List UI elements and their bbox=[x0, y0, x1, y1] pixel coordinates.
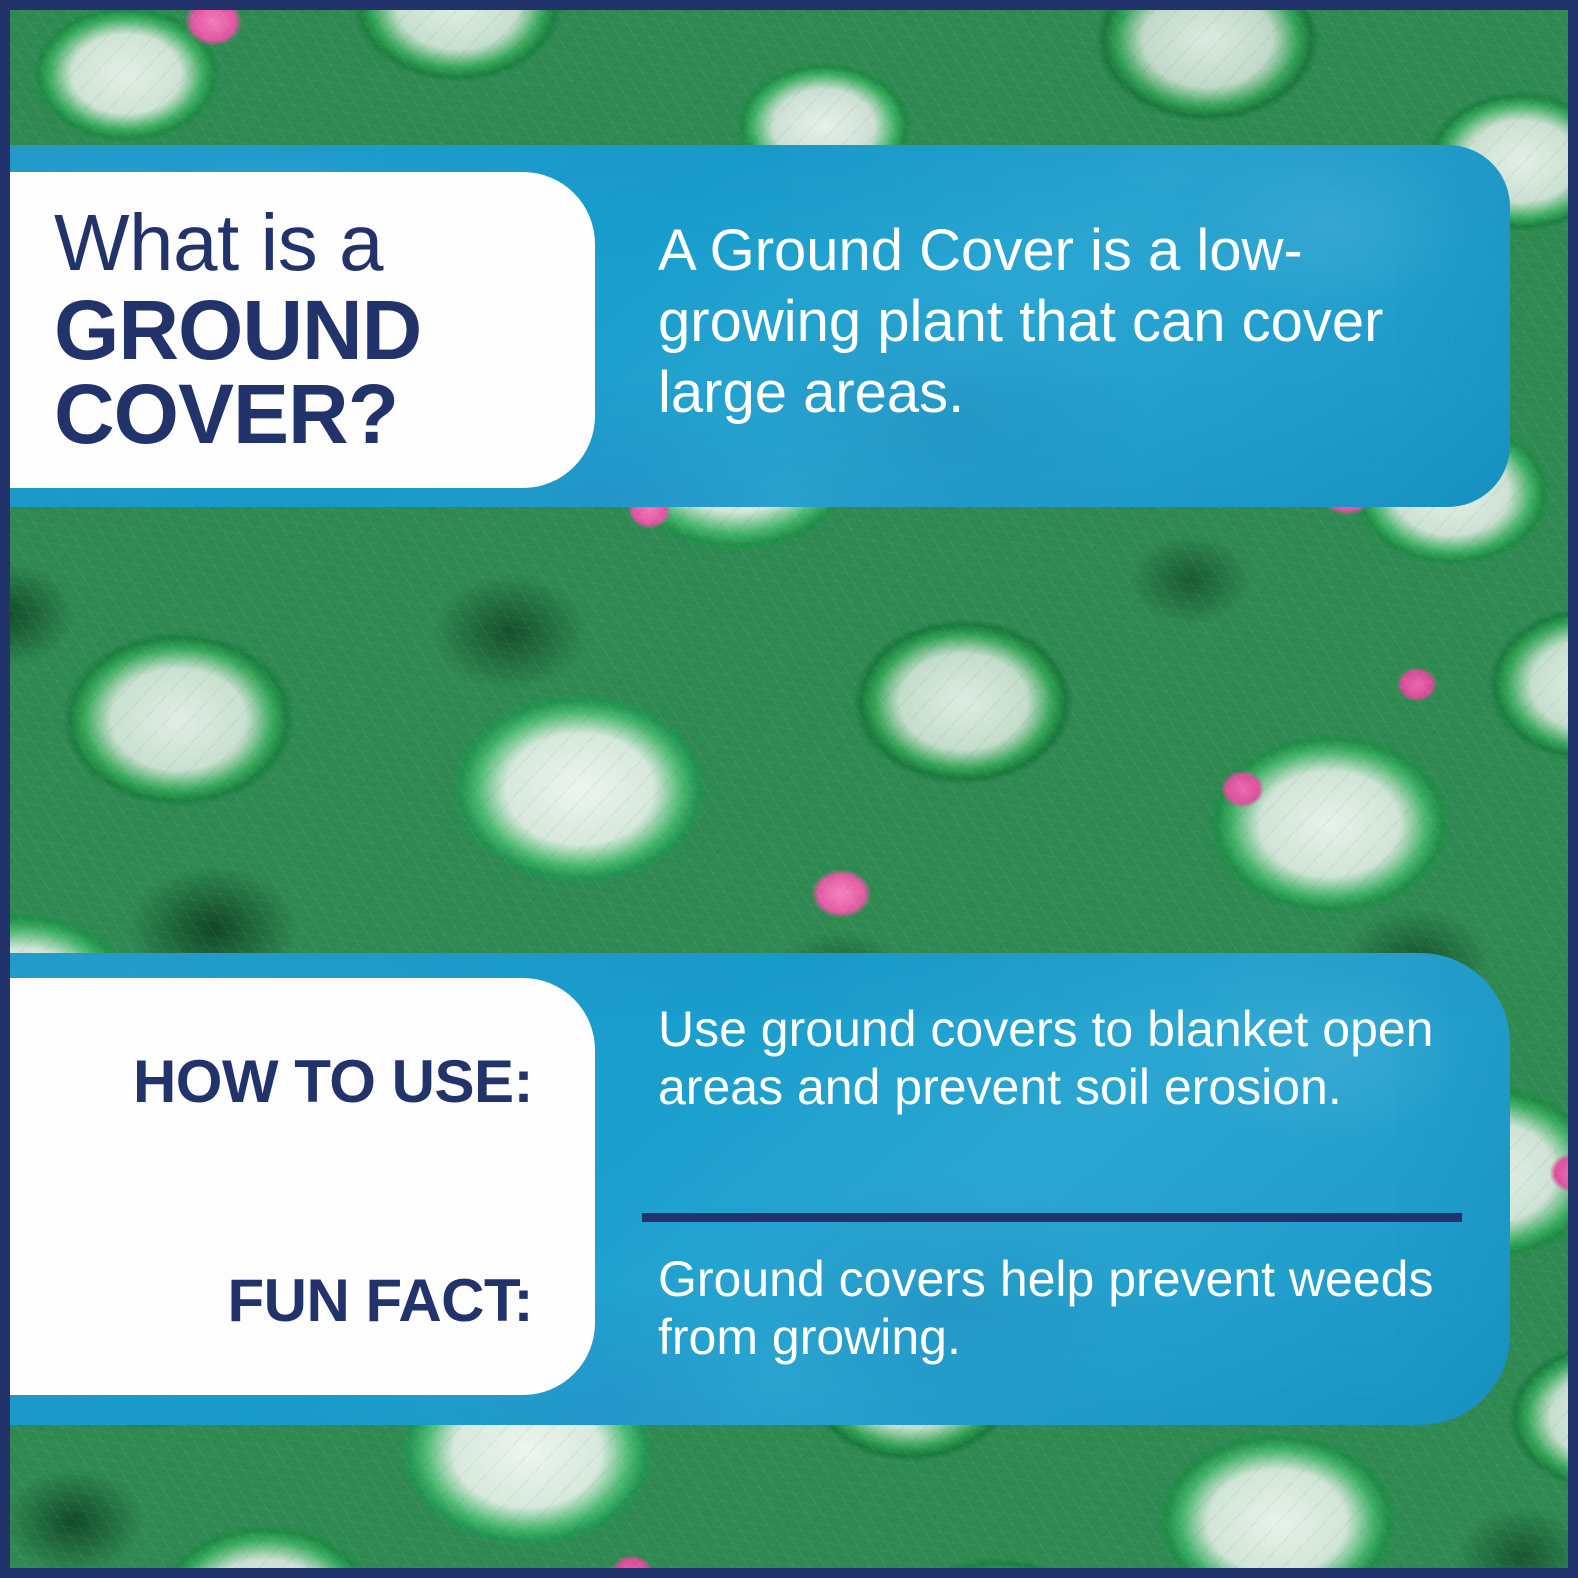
infographic-card: What is a GROUND COVER? A Ground Cover i… bbox=[0, 0, 1578, 1578]
definition-paragraph: A Ground Cover is a low-growing plant th… bbox=[658, 216, 1478, 428]
page-title-line-3: COVER? bbox=[54, 372, 595, 456]
fun-fact-label: FUN FACT: bbox=[228, 1271, 533, 1331]
how-to-use-paragraph: Use ground covers to blanket open areas … bbox=[658, 1000, 1488, 1116]
labels-card: HOW TO USE: FUN FACT: bbox=[10, 978, 595, 1395]
page-title-line-2: GROUND bbox=[54, 288, 595, 372]
page-title-line-1: What is a bbox=[54, 204, 595, 282]
horizontal-divider bbox=[642, 1213, 1462, 1222]
title-card: What is a GROUND COVER? bbox=[10, 172, 595, 488]
how-to-use-label: HOW TO USE: bbox=[133, 1052, 533, 1112]
fun-fact-paragraph: Ground covers help prevent weeds from gr… bbox=[658, 1250, 1498, 1366]
